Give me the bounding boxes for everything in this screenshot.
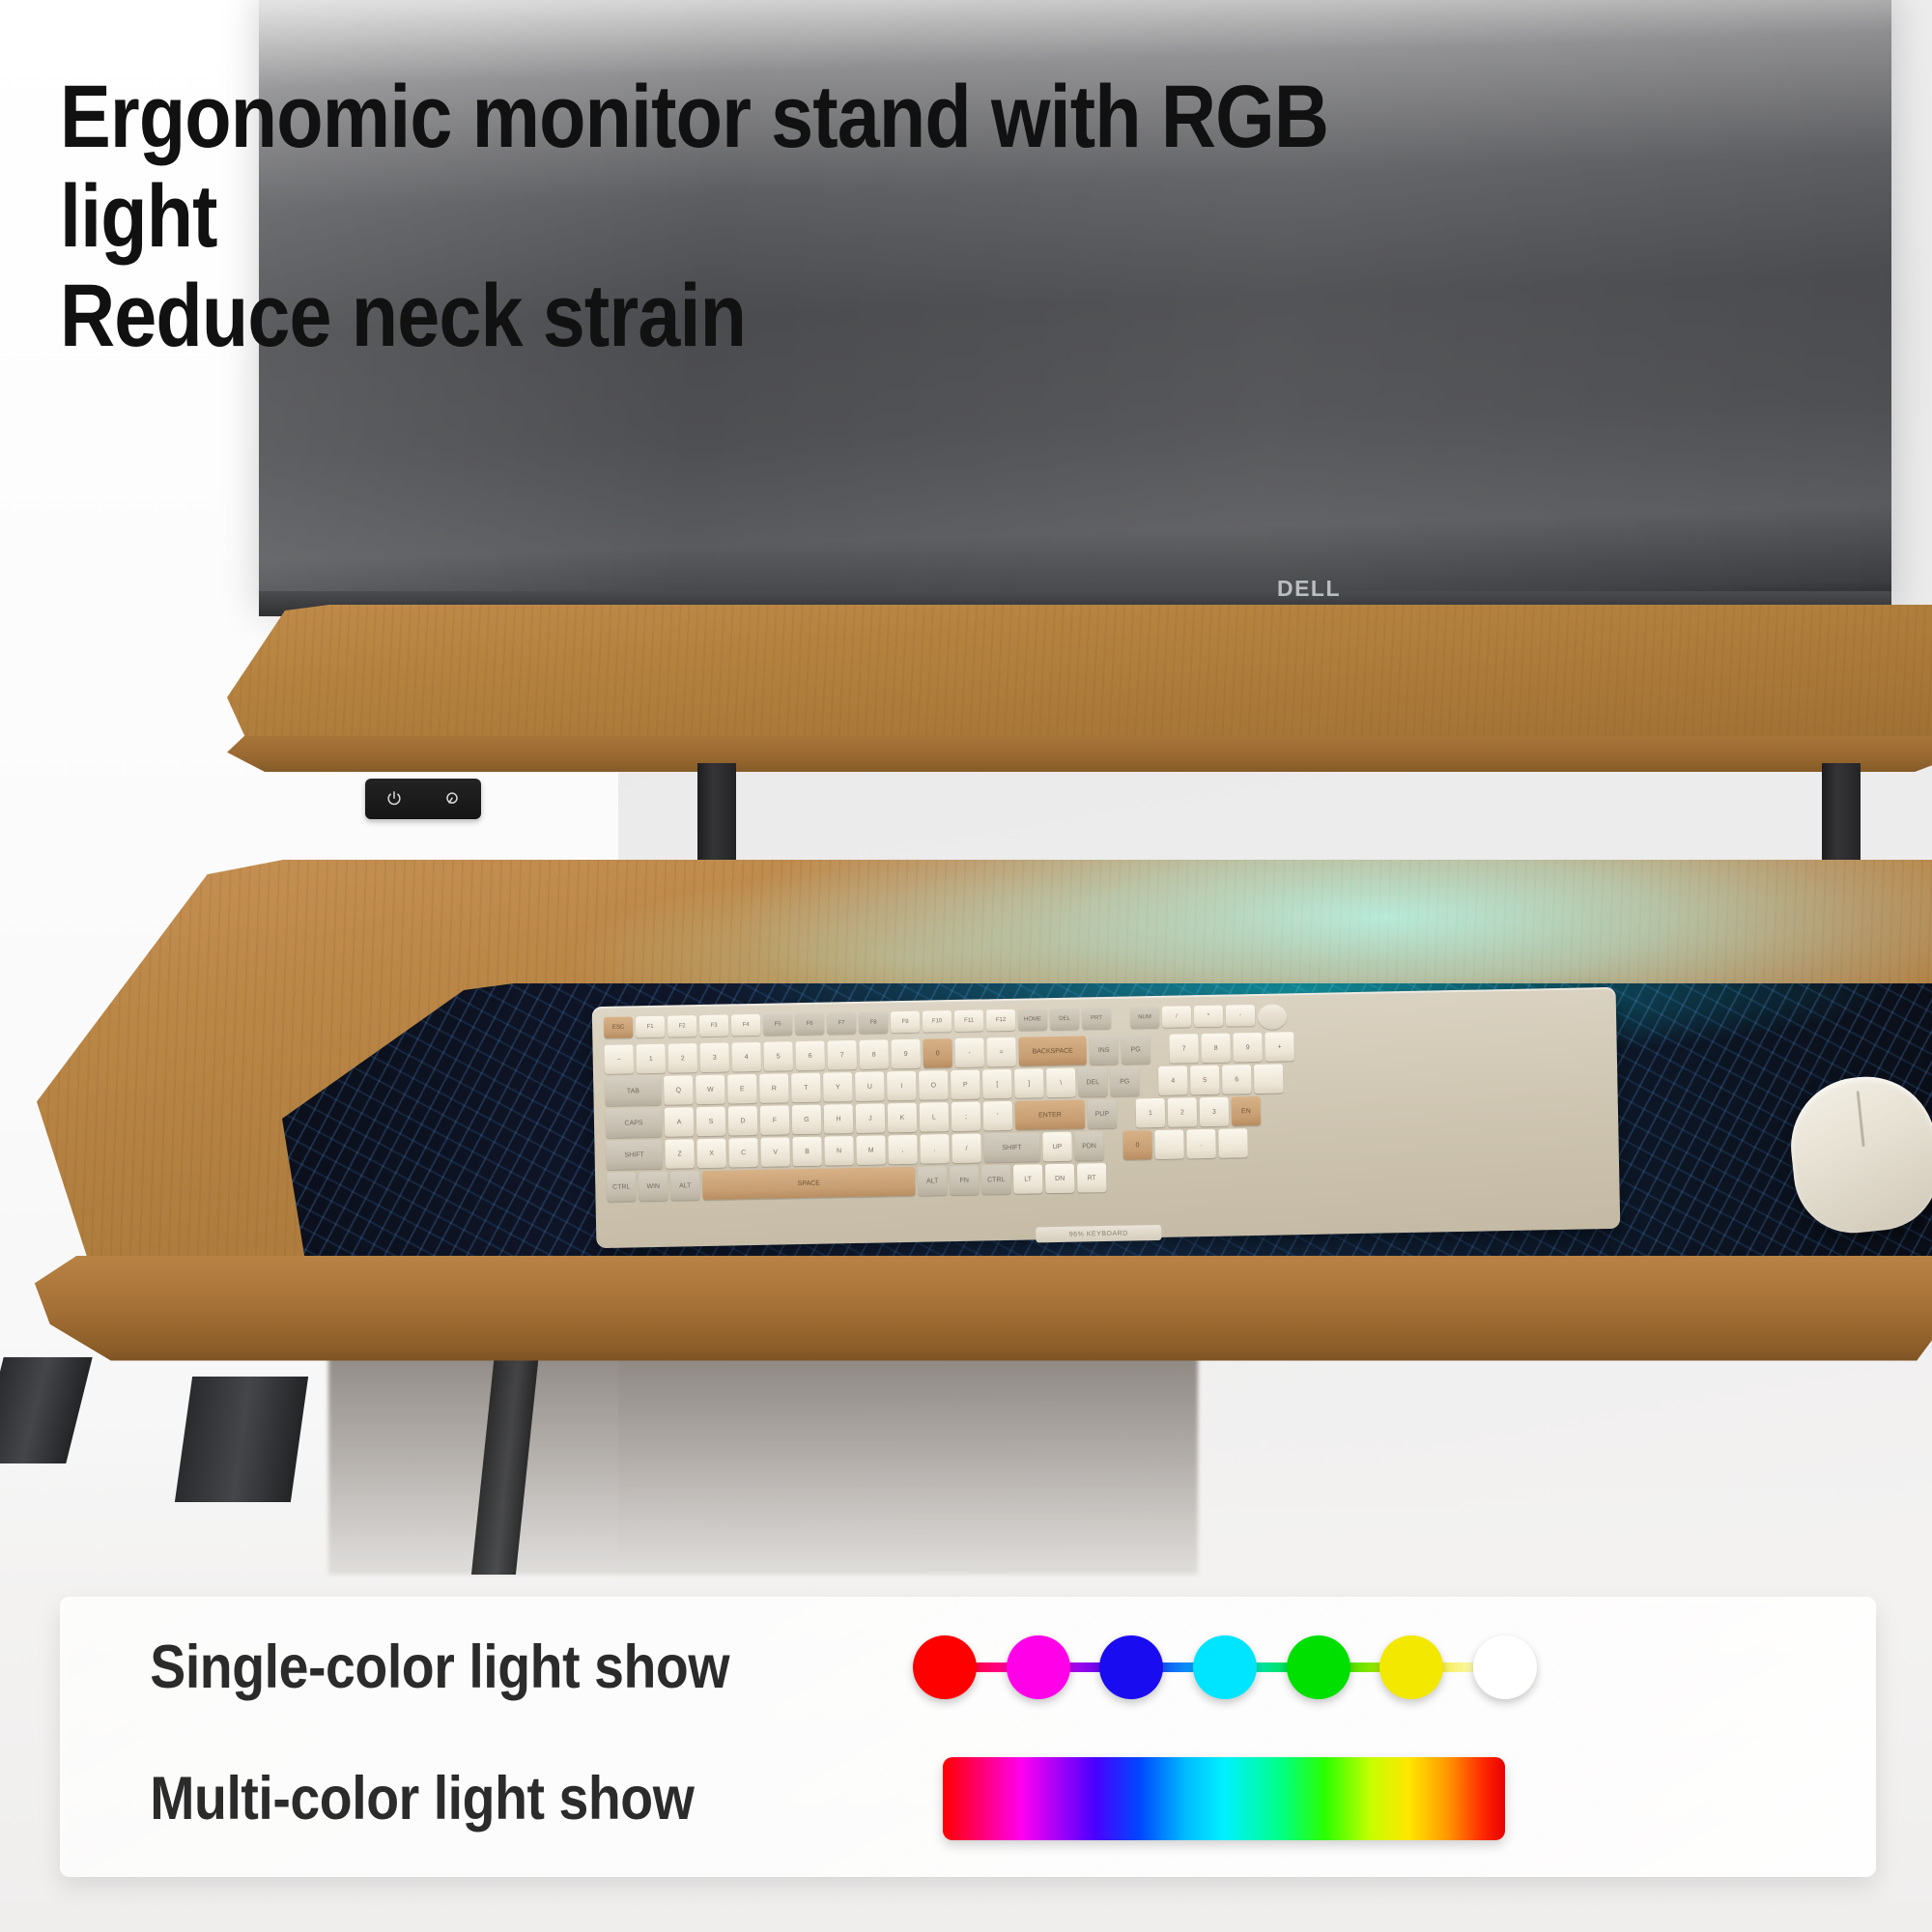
key-7[interactable]: 7 bbox=[827, 1040, 857, 1070]
key-z[interactable]: Z bbox=[665, 1139, 695, 1169]
numpad-gap bbox=[1120, 1098, 1134, 1127]
key-home[interactable]: HOME bbox=[1018, 1009, 1047, 1031]
key-pup[interactable]: PUP bbox=[1088, 1099, 1118, 1129]
numpad-key-4[interactable]: 4 bbox=[1158, 1065, 1188, 1095]
key-n[interactable]: N bbox=[824, 1136, 854, 1166]
numpad-key-7[interactable]: 7 bbox=[1169, 1034, 1199, 1064]
key-p[interactable]: P bbox=[951, 1070, 980, 1100]
key-backspace[interactable]: BACKSPACE bbox=[1018, 1036, 1087, 1065]
key-rt[interactable]: RT bbox=[1077, 1163, 1107, 1193]
numpad-key-blank[interactable] bbox=[1218, 1128, 1248, 1158]
key-u[interactable]: U bbox=[855, 1071, 885, 1101]
key-alt[interactable]: ALT bbox=[670, 1171, 700, 1201]
key-ctrl[interactable]: CTRL bbox=[981, 1165, 1011, 1195]
key-s[interactable]: S bbox=[696, 1107, 726, 1137]
key-ctrl[interactable]: CTRL bbox=[607, 1172, 637, 1202]
key-j[interactable]: J bbox=[856, 1103, 886, 1133]
key--[interactable]: ~ bbox=[604, 1044, 634, 1074]
key-8[interactable]: 8 bbox=[859, 1039, 889, 1069]
volume-knob[interactable] bbox=[1258, 1004, 1287, 1030]
keyboard-rows: ESCF1F2F3F4F5F6F7F8F9F10F11F12HOMEDELPRT… bbox=[604, 998, 1607, 1202]
key-dn[interactable]: DN bbox=[1045, 1164, 1075, 1194]
color-swatch-blue[interactable] bbox=[1099, 1635, 1163, 1699]
numpad-key--[interactable]: * bbox=[1194, 1006, 1223, 1028]
key-pg[interactable]: PG bbox=[1121, 1035, 1151, 1065]
key-2[interactable]: 2 bbox=[668, 1043, 697, 1073]
color-swatch-white[interactable] bbox=[1473, 1635, 1537, 1699]
key-space[interactable]: SPACE bbox=[702, 1167, 916, 1200]
key--[interactable]: - bbox=[954, 1037, 984, 1067]
key-1[interactable]: 1 bbox=[636, 1044, 666, 1074]
key-k[interactable]: K bbox=[888, 1103, 918, 1133]
color-swatch-green[interactable] bbox=[1287, 1635, 1350, 1699]
key-h[interactable]: H bbox=[824, 1104, 854, 1134]
numpad-key-blank[interactable] bbox=[1254, 1064, 1284, 1094]
headline-line-1: Ergonomic monitor stand with RGB light bbox=[60, 68, 1328, 266]
key--[interactable]: = bbox=[986, 1037, 1016, 1067]
product-hero-scene: DELL ESCF1F2F3F4F5F6F7F8F9F10F11F12HOMED… bbox=[0, 0, 1932, 1932]
key-tab[interactable]: TAB bbox=[605, 1076, 662, 1106]
numpad-key--[interactable]: - bbox=[1226, 1005, 1255, 1027]
multi-color-row: Multi-color light show bbox=[60, 1742, 1876, 1856]
color-swatch-magenta[interactable] bbox=[1007, 1635, 1070, 1699]
key-f12[interactable]: F12 bbox=[986, 1009, 1015, 1032]
key-ins[interactable]: INS bbox=[1089, 1036, 1119, 1065]
numpad-key-1[interactable]: 1 bbox=[1136, 1098, 1166, 1128]
numpad-key-5[interactable]: 5 bbox=[1190, 1065, 1220, 1095]
key-4[interactable]: 4 bbox=[731, 1042, 761, 1072]
stand-control-panel[interactable] bbox=[365, 779, 481, 819]
key-pdn[interactable]: PDN bbox=[1074, 1131, 1104, 1161]
key-i[interactable]: I bbox=[887, 1071, 917, 1101]
key--[interactable]: ] bbox=[1014, 1068, 1044, 1098]
key-alt[interactable]: ALT bbox=[918, 1166, 948, 1196]
key--[interactable]: / bbox=[952, 1133, 981, 1163]
key-g[interactable]: G bbox=[792, 1105, 822, 1135]
key--[interactable]: ; bbox=[952, 1101, 981, 1131]
key-t[interactable]: T bbox=[791, 1073, 821, 1103]
multi-color-gradient-bar[interactable] bbox=[943, 1757, 1505, 1840]
single-color-row: Single-color light show bbox=[60, 1610, 1876, 1724]
key-d[interactable]: D bbox=[728, 1106, 758, 1136]
key--[interactable]: . bbox=[920, 1134, 950, 1164]
key-o[interactable]: O bbox=[919, 1070, 949, 1100]
key--[interactable]: ' bbox=[983, 1101, 1013, 1131]
key--[interactable]: \ bbox=[1046, 1068, 1076, 1098]
key-f10[interactable]: F10 bbox=[923, 1010, 952, 1033]
key-y[interactable]: Y bbox=[823, 1072, 853, 1102]
key-prt[interactable]: PRT bbox=[1082, 1008, 1111, 1030]
key-f4[interactable]: F4 bbox=[731, 1014, 760, 1037]
single-color-swatches[interactable] bbox=[910, 1624, 1548, 1711]
monitor-stand-shelf-edge bbox=[220, 736, 1932, 777]
key-5[interactable]: 5 bbox=[763, 1041, 793, 1071]
numpad-key-blank[interactable] bbox=[1154, 1129, 1184, 1159]
key-v[interactable]: V bbox=[760, 1137, 790, 1167]
key-up[interactable]: UP bbox=[1042, 1132, 1072, 1162]
numpad-gap bbox=[1114, 1008, 1127, 1033]
numpad-key-en[interactable]: EN bbox=[1232, 1096, 1262, 1126]
multi-color-gradient-bar-wrap[interactable] bbox=[910, 1757, 1548, 1840]
key-x[interactable]: X bbox=[696, 1139, 726, 1169]
numpad-key--[interactable]: . bbox=[1186, 1129, 1216, 1159]
key-b[interactable]: B bbox=[792, 1137, 822, 1167]
key--[interactable]: [ bbox=[982, 1069, 1012, 1099]
numpad-key--[interactable]: + bbox=[1264, 1032, 1294, 1062]
numpad-gap bbox=[1152, 1035, 1167, 1064]
key-f3[interactable]: F3 bbox=[699, 1014, 728, 1037]
color-swatch-cyan[interactable] bbox=[1193, 1635, 1257, 1699]
key-l[interactable]: L bbox=[920, 1102, 950, 1132]
light-mode-icon[interactable] bbox=[442, 789, 462, 809]
key-win[interactable]: WIN bbox=[639, 1172, 668, 1202]
multi-color-label: Multi-color light show bbox=[60, 1764, 808, 1833]
numpad-key-num[interactable]: NUM bbox=[1130, 1007, 1159, 1029]
key-f8[interactable]: F8 bbox=[859, 1011, 888, 1034]
light-modes-card: Single-color light show Multi-color ligh… bbox=[60, 1597, 1876, 1877]
numpad-key-2[interactable]: 2 bbox=[1168, 1097, 1198, 1127]
color-swatch-yellow[interactable] bbox=[1379, 1635, 1443, 1699]
key-9[interactable]: 9 bbox=[891, 1039, 921, 1069]
color-swatch-red[interactable] bbox=[913, 1635, 977, 1699]
key-3[interactable]: 3 bbox=[699, 1042, 729, 1072]
page-title: Ergonomic monitor stand with RGB light R… bbox=[60, 68, 1422, 366]
key-0[interactable]: 0 bbox=[923, 1038, 952, 1068]
key-esc[interactable]: ESC bbox=[604, 1016, 633, 1038]
key-lt[interactable]: LT bbox=[1013, 1164, 1043, 1194]
key-f1[interactable]: F1 bbox=[636, 1016, 665, 1038]
key-w[interactable]: W bbox=[696, 1075, 725, 1105]
numpad-gap bbox=[1106, 1131, 1121, 1160]
single-color-label: Single-color light show bbox=[60, 1633, 808, 1702]
key-f5[interactable]: F5 bbox=[763, 1013, 792, 1036]
key-6[interactable]: 6 bbox=[795, 1041, 825, 1071]
monitor-stand-shelf bbox=[227, 605, 1932, 750]
key-caps[interactable]: CAPS bbox=[606, 1108, 663, 1138]
key-f9[interactable]: F9 bbox=[891, 1011, 920, 1034]
dell-logo: DELL bbox=[1256, 574, 1362, 603]
desk-front-edge bbox=[27, 1256, 1932, 1370]
key-f2[interactable]: F2 bbox=[668, 1015, 696, 1037]
numpad-key-0[interactable]: 0 bbox=[1122, 1130, 1152, 1160]
key-f11[interactable]: F11 bbox=[954, 1009, 983, 1032]
numpad-key-6[interactable]: 6 bbox=[1222, 1065, 1252, 1094]
key-f[interactable]: F bbox=[760, 1105, 790, 1135]
numpad-key-9[interactable]: 9 bbox=[1233, 1033, 1263, 1063]
key-c[interactable]: C bbox=[728, 1138, 758, 1168]
mechanical-keyboard[interactable]: ESCF1F2F3F4F5F6F7F8F9F10F11F12HOMEDELPRT… bbox=[592, 987, 1621, 1248]
key-fn[interactable]: FN bbox=[950, 1166, 980, 1196]
numpad-gap bbox=[1142, 1066, 1156, 1095]
key--[interactable]: , bbox=[888, 1135, 918, 1165]
key-r[interactable]: R bbox=[759, 1073, 789, 1103]
key-del[interactable]: DEL bbox=[1050, 1009, 1079, 1031]
key-shift[interactable]: SHIFT bbox=[983, 1132, 1040, 1162]
key-f7[interactable]: F7 bbox=[827, 1012, 856, 1035]
key-a[interactable]: A bbox=[665, 1107, 695, 1137]
key-del[interactable]: DEL bbox=[1078, 1067, 1108, 1097]
desk-bracket-right bbox=[175, 1377, 308, 1502]
headline-line-2: Reduce neck strain bbox=[60, 267, 1422, 366]
key-enter[interactable]: ENTER bbox=[1015, 1099, 1086, 1129]
key-e[interactable]: E bbox=[727, 1074, 757, 1104]
desk-under-shadow bbox=[328, 1352, 1198, 1575]
numpad-key-8[interactable]: 8 bbox=[1201, 1034, 1231, 1064]
key-q[interactable]: Q bbox=[664, 1075, 694, 1105]
key-shift[interactable]: SHIFT bbox=[606, 1140, 663, 1170]
key-m[interactable]: M bbox=[856, 1135, 886, 1165]
power-icon[interactable] bbox=[384, 789, 404, 809]
keyboard-badge: 96% KEYBOARD bbox=[1036, 1225, 1161, 1242]
key-pg[interactable]: PG bbox=[1110, 1066, 1140, 1096]
key-f6[interactable]: F6 bbox=[795, 1013, 824, 1036]
numpad-key--[interactable]: / bbox=[1162, 1006, 1191, 1028]
numpad-key-3[interactable]: 3 bbox=[1200, 1097, 1230, 1127]
